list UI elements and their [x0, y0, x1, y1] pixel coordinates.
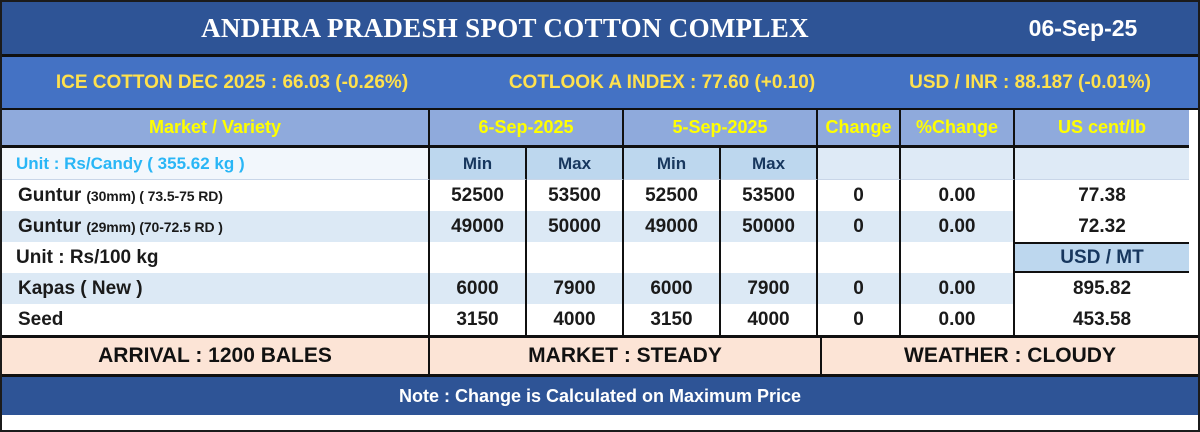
note-row: Note : Change is Calculated on Maximum P… — [2, 374, 1198, 415]
cotlook-a-index: COTLOOK A INDEX : 77.60 (+0.10) — [462, 72, 862, 94]
blank-cell — [901, 242, 1015, 273]
cell-change: 0 — [818, 180, 901, 211]
blank-cell — [818, 242, 901, 273]
cell-max-prev: 4000 — [721, 304, 818, 335]
header-change: Change — [818, 110, 901, 148]
table-row: Seed 3150 4000 3150 4000 0 0.00 453.58 — [2, 304, 1198, 335]
table-row: Kapas ( New ) 6000 7900 6000 7900 0 0.00… — [2, 273, 1198, 304]
cell-change: 0 — [818, 211, 901, 242]
cell-min-prev: 49000 — [624, 211, 721, 242]
cell-max-prev: 50000 — [721, 211, 818, 242]
cell-max-today: 53500 — [527, 180, 624, 211]
row-label: Seed — [2, 304, 430, 335]
spot-cotton-report: ANDHRA PRADESH SPOT COTTON COMPLEX 06-Se… — [0, 0, 1200, 432]
weather-summary: WEATHER : CLOUDY — [822, 338, 1198, 374]
summary-row: ARRIVAL : 1200 BALES MARKET : STEADY WEA… — [2, 335, 1198, 374]
header-us-cent-lb: US cent/lb — [1015, 110, 1189, 148]
table-row: Guntur (30mm) ( 73.5-75 RD) 52500 53500 … — [2, 180, 1198, 211]
unit-rs-100kg-label: Unit : Rs/100 kg — [2, 242, 430, 273]
subheader-max-prev: Max — [721, 148, 818, 180]
title-bar: ANDHRA PRADESH SPOT COTTON COMPLEX 06-Se… — [2, 2, 1198, 57]
index-bar: ICE COTTON DEC 2025 : 66.03 (-0.26%) COT… — [2, 57, 1198, 110]
report-date: 06-Sep-25 — [968, 15, 1198, 42]
unit-rs-candy-label: Unit : Rs/Candy ( 355.62 kg ) — [2, 148, 430, 180]
subheader-min-prev: Min — [624, 148, 721, 180]
row-label: Kapas ( New ) — [2, 273, 430, 304]
cell-min-today: 3150 — [430, 304, 527, 335]
variety-name: Guntur — [18, 216, 81, 238]
cell-max-today: 50000 — [527, 211, 624, 242]
header-market-variety: Market / Variety — [2, 110, 430, 148]
arrival-summary: ARRIVAL : 1200 BALES — [2, 338, 430, 374]
subheader-min-today: Min — [430, 148, 527, 180]
cell-pct-change: 0.00 — [901, 180, 1015, 211]
header-date-prev: 5-Sep-2025 — [624, 110, 818, 148]
cell-min-today: 6000 — [430, 273, 527, 304]
cell-max-prev: 53500 — [721, 180, 818, 211]
header-date-today: 6-Sep-2025 — [430, 110, 624, 148]
table-header-row: Market / Variety 6-Sep-2025 5-Sep-2025 C… — [2, 110, 1198, 148]
row-label: Guntur (30mm) ( 73.5-75 RD) — [2, 180, 430, 211]
cell-pct-change: 0.00 — [901, 211, 1015, 242]
cell-min-today: 49000 — [430, 211, 527, 242]
unit-100kg-row: Unit : Rs/100 kg USD / MT — [2, 242, 1198, 273]
cell-pct-change: 0.00 — [901, 273, 1015, 304]
variety-name: Guntur — [18, 185, 81, 207]
row-label: Guntur (29mm) (70-72.5 RD ) — [2, 211, 430, 242]
subheader-change-blank — [818, 148, 901, 180]
blank-cell — [721, 242, 818, 273]
subheader-pct-blank — [901, 148, 1015, 180]
variety-spec: (29mm) (70-72.5 RD ) — [86, 219, 223, 235]
cell-usd-value: 72.32 — [1015, 211, 1189, 242]
cell-usd-value: 77.38 — [1015, 180, 1189, 211]
blank-cell — [527, 242, 624, 273]
cell-max-today: 7900 — [527, 273, 624, 304]
market-summary: MARKET : STEADY — [430, 338, 822, 374]
cell-usd-value: 895.82 — [1015, 273, 1189, 304]
subheader-usd-blank — [1015, 148, 1189, 180]
subheader-max-today: Max — [527, 148, 624, 180]
cell-max-today: 4000 — [527, 304, 624, 335]
cell-usd-value: 453.58 — [1015, 304, 1189, 335]
cell-min-prev: 52500 — [624, 180, 721, 211]
cell-pct-change: 0.00 — [901, 304, 1015, 335]
header-usd-mt: USD / MT — [1015, 242, 1189, 273]
ice-cotton-index: ICE COTTON DEC 2025 : 66.03 (-0.26%) — [2, 72, 462, 94]
usd-inr-rate: USD / INR : 88.187 (-0.01%) — [862, 72, 1198, 94]
cell-min-today: 52500 — [430, 180, 527, 211]
blank-cell — [430, 242, 527, 273]
variety-spec: (30mm) ( 73.5-75 RD) — [86, 188, 223, 204]
variety-name: Seed — [18, 309, 63, 331]
cell-change: 0 — [818, 273, 901, 304]
note-text: Note : Change is Calculated on Maximum P… — [2, 377, 1198, 415]
cell-min-prev: 3150 — [624, 304, 721, 335]
cell-max-prev: 7900 — [721, 273, 818, 304]
variety-name: Kapas ( New ) — [18, 278, 143, 300]
header-pct-change: %Change — [901, 110, 1015, 148]
cell-change: 0 — [818, 304, 901, 335]
table-subheader-row: Unit : Rs/Candy ( 355.62 kg ) Min Max Mi… — [2, 148, 1198, 180]
price-table: Market / Variety 6-Sep-2025 5-Sep-2025 C… — [2, 110, 1198, 430]
table-row: Guntur (29mm) (70-72.5 RD ) 49000 50000 … — [2, 211, 1198, 242]
cell-min-prev: 6000 — [624, 273, 721, 304]
blank-cell — [624, 242, 721, 273]
